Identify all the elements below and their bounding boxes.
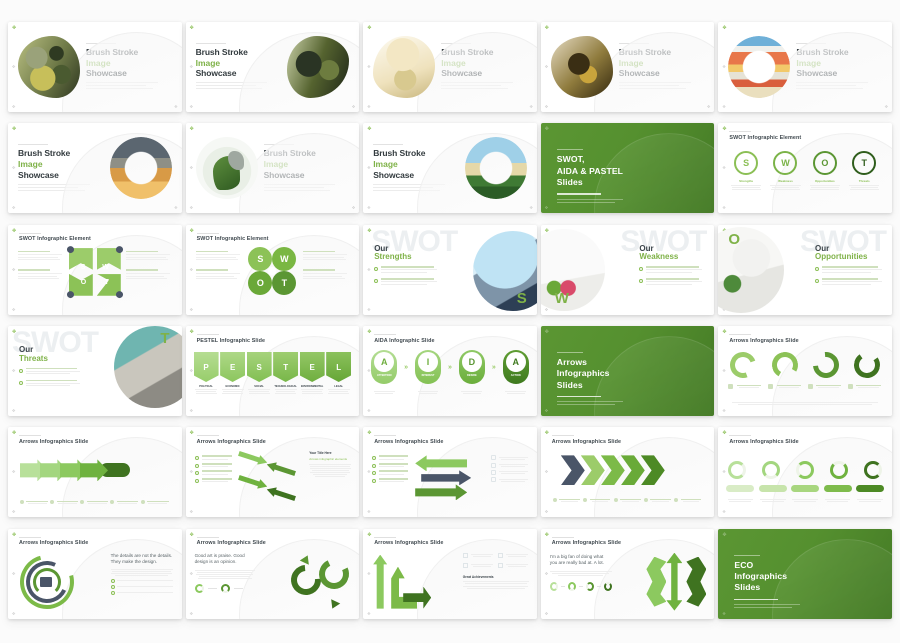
green-cover-text: ECO Infographics Slides (734, 555, 800, 610)
arrow-rings-row (730, 352, 880, 378)
kicker-rule (557, 149, 583, 150)
corner-mark-icon: ✥ (367, 510, 370, 514)
pill-badge[interactable] (791, 485, 819, 492)
kicker-rule (264, 144, 294, 145)
corner-mark-icon: ✥ (190, 510, 193, 514)
cover-line-3: Showcase (796, 68, 882, 79)
placeholder-lines (796, 82, 882, 89)
pill-badge[interactable] (759, 485, 787, 492)
arrow-icon[interactable] (373, 555, 387, 609)
slide-thumbnail-grid: ✥ ✥ ✥ ✥ Brush Stroke Image Showcase ✥ ✥ … (0, 0, 900, 643)
slide-header: SWOT Infographic Element (19, 233, 172, 243)
spiral-arrows (20, 555, 74, 609)
pestel-item[interactable]: T TECHNOLOGICAL (273, 352, 298, 395)
cover-title-line: Slides (557, 177, 623, 188)
cover-text: Brush Stroke Image Showcase (441, 43, 527, 92)
donut-icon[interactable] (728, 461, 746, 479)
quote-block: I'm a big fan of doing what you are real… (550, 554, 612, 591)
corner-mark-icon: ✥ (367, 166, 370, 170)
cover-title-line: AIDA & PASTEL (557, 166, 623, 177)
corner-mark-icon: ✥ (190, 26, 194, 31)
cover-line-3: Showcase (441, 68, 527, 79)
pestel-caption: TECHNOLOGICAL (273, 385, 298, 388)
slide-title: SWOT Infographic Element (729, 135, 882, 141)
corner-mark-icon: ✥ (367, 65, 370, 69)
circular-arrow-icon[interactable] (852, 350, 882, 380)
slide-thumbnail[interactable]: ✥ ✥ ✥ SWOT Infographic Element S W O T (8, 225, 182, 315)
corner-mark-icon: ✥ (190, 206, 193, 210)
pestel-item[interactable]: L LEGAL (326, 352, 351, 395)
corner-mark-icon: ✥ (545, 612, 548, 616)
double-arrow-icon[interactable] (666, 553, 682, 611)
corner-mark-icon: ✥ (174, 105, 177, 109)
cover-line-3: Showcase (18, 170, 104, 181)
corner-mark-icon: ✥ (367, 431, 371, 436)
corner-mark-icon: ✥ (352, 206, 355, 210)
slide-title: Arrows Infographics Slide (19, 540, 172, 546)
corner-mark-icon: ✥ (885, 105, 888, 109)
slide-thumbnail[interactable]: ✥ ✥ ✥ Arrows Infographics Slide Your Tit… (186, 427, 360, 517)
corner-mark-icon: ✥ (722, 105, 725, 109)
cover-line-3: Showcase (86, 68, 172, 79)
aida-connector-icon: » (448, 364, 452, 371)
brush-image (465, 137, 527, 199)
slide-thumbnail[interactable]: ✥ ✥ ✥ Arrows Infographics Slide (718, 326, 892, 416)
slide-header: Arrows Infographics Slide (19, 435, 172, 445)
brush-image (551, 36, 613, 98)
corner-mark-icon: ✥ (190, 533, 194, 538)
corner-mark-icon: ✥ (545, 26, 549, 31)
slide-title: Arrows Infographics Slide (374, 439, 527, 445)
corner-mark-icon: ✥ (545, 105, 548, 109)
corner-mark-icon: ✥ (352, 105, 355, 109)
arrow-icon[interactable] (415, 484, 467, 500)
corner-mark-icon: ✥ (722, 206, 725, 210)
corner-mark-icon: ✥ (12, 369, 15, 373)
corner-mark-icon: ✥ (12, 26, 16, 31)
slide-thumbnail[interactable]: ✥ ✥ ✥ ✥ Brush Stroke Image Showcase (718, 22, 892, 112)
bullet-list (374, 266, 438, 286)
placeholder-line (557, 199, 623, 200)
swot-text-left (18, 251, 64, 281)
pill-badge[interactable] (726, 485, 754, 492)
corner-mark-icon: ✥ (367, 330, 371, 335)
slide-thumbnail[interactable]: ✥ ✥ ECO Infographics Slides (718, 529, 892, 619)
arrow-icon[interactable] (421, 470, 471, 485)
bracket-arrow-icon[interactable] (646, 557, 666, 607)
corner-mark-icon: ✥ (545, 65, 548, 69)
corner-mark-icon: ✥ (545, 409, 548, 413)
placeholder-line (557, 202, 615, 203)
donut-icon[interactable] (762, 461, 780, 479)
section-heading: Threats (19, 355, 81, 364)
corner-mark-icon: ✥ (367, 206, 370, 210)
loop-arrow-icon[interactable] (315, 554, 353, 592)
corner-mark-icon: ✥ (367, 268, 370, 272)
side-text: Your Title Here Arrows infographic eleme… (309, 451, 351, 478)
corner-mark-icon: ✥ (367, 572, 370, 576)
chevron-icon[interactable] (561, 455, 585, 485)
brush-image (287, 36, 349, 98)
pestel-letter: E (300, 352, 325, 382)
corner-mark-icon: ✥ (12, 229, 16, 234)
aida-caption: ATTENTION (377, 374, 392, 377)
slide-thumbnail[interactable]: ✥ ✥ ✥ Arrows Infographics Slide Good art… (186, 529, 360, 619)
slide-title: Arrows Infographics Slide (374, 540, 527, 546)
corner-mark-icon: ✥ (12, 533, 16, 538)
corner-mark-icon: ✥ (545, 572, 548, 576)
slide-thumbnail[interactable]: ✥ ✥ ✥ ✥ Brush Stroke Image Showcase (8, 22, 182, 112)
swot-letter: O (81, 279, 86, 286)
slide-header: SWOT Infographic Element (729, 131, 882, 141)
donut-icon[interactable] (604, 582, 612, 591)
swot-cluster-diagram: S W O T (247, 246, 297, 296)
placeholder-line (557, 404, 615, 405)
corner-mark-icon: ✥ (722, 65, 725, 69)
swot-letter: S (517, 290, 527, 307)
corner-mark-icon: ✥ (12, 127, 16, 132)
cover-text: Brush Stroke Image Showcase (86, 43, 172, 92)
donut-icon[interactable] (568, 582, 576, 591)
section-heading: Strengths (374, 253, 438, 262)
slide-title: Arrows Infographics Slide (729, 338, 882, 344)
corner-mark-icon: ✥ (190, 65, 193, 69)
arrow-icon[interactable] (237, 473, 269, 492)
pestel-letter: E (220, 352, 245, 382)
corner-mark-icon: ✥ (545, 330, 549, 335)
corner-mark-icon: ✥ (529, 206, 532, 210)
cover-line-2: Image (264, 159, 350, 170)
aida-item[interactable]: A ACTION (503, 350, 529, 395)
slide-thumbnail[interactable]: ✥ ✥ SWOT, AIDA & PASTEL Slides (541, 123, 715, 213)
circular-arrow-icon[interactable] (726, 348, 761, 383)
placeholder-lines (196, 82, 282, 89)
slide-thumbnail[interactable]: ✥ ✥ ✥ SWOT Infographic Element S Strengt… (718, 123, 892, 213)
cover-line-1: Brush Stroke (196, 47, 282, 58)
side-title: Great Achievements (463, 575, 529, 579)
corner-mark-icon: ✥ (12, 612, 15, 616)
pestel-letter: S (247, 352, 272, 382)
slide-title: Arrows Infographics Slide (19, 439, 172, 445)
slide-thumbnail[interactable]: ✥ ✥ ✥ Arrows Infographics Slide (8, 427, 182, 517)
slide-thumbnail[interactable]: ✥ ✥ ✥ Arrows Infographics Slide The deta… (8, 529, 182, 619)
corner-mark-icon: ✥ (722, 470, 725, 474)
cover-line-3: Showcase (264, 170, 350, 181)
donut-icon[interactable] (796, 461, 814, 479)
swot-caption: Weakness (766, 179, 804, 183)
aida-connector-icon: » (492, 364, 496, 371)
brush-image (373, 36, 435, 98)
donut-icon[interactable] (830, 461, 848, 479)
slide-header: Arrows Infographics Slide (197, 435, 350, 445)
cover-line-2: Image (441, 58, 527, 69)
aida-item[interactable]: D DESIRE (459, 350, 485, 395)
cover-title-line: Arrows (557, 357, 623, 368)
swot-text-left (196, 251, 242, 281)
corner-mark-icon: ✥ (190, 127, 194, 132)
corner-mark-icon: ✥ (190, 409, 193, 413)
footer-lines (732, 401, 878, 406)
corner-mark-icon: ✥ (174, 206, 177, 210)
corner-mark-icon: ✥ (707, 105, 710, 109)
slide-thumbnail[interactable]: ✥ ✥ ✥ ✥ Brush Stroke Image Showcase (186, 123, 360, 213)
corner-mark-icon: ✥ (12, 470, 15, 474)
corner-mark-icon: ✥ (367, 533, 371, 538)
mirror-arrows (644, 551, 708, 613)
pill-row (726, 485, 884, 492)
cover-line-2: Image (86, 58, 172, 69)
quote-text: I'm a big fan of doing what you are real… (550, 554, 612, 567)
corner-mark-icon: ✥ (12, 572, 15, 576)
slide-header: Arrows Infographics Slide (552, 435, 705, 445)
corner-mark-icon: ✥ (190, 470, 193, 474)
quote-text: Good art is praise. Good design is an op… (195, 553, 255, 566)
kicker-rule (441, 43, 471, 44)
swot-letter: T (160, 330, 169, 347)
chain-captions (20, 500, 170, 505)
corner-mark-icon: ✥ (722, 510, 725, 514)
brush-image (728, 36, 790, 98)
pestel-item[interactable]: E ENVIRONMENTAL (300, 352, 325, 395)
slide-title: Arrows Infographics Slide (729, 439, 882, 445)
title-rule (557, 396, 601, 397)
slide-title: SWOT Infographic Element (19, 236, 172, 242)
slide-header: Arrows Infographics Slide (374, 537, 527, 547)
swot-letter: O (728, 231, 740, 248)
section-heading: Opportunities (815, 253, 883, 262)
ring-row (728, 461, 882, 479)
kicker-rule (796, 43, 826, 44)
brush-image (18, 36, 80, 98)
arrow-icon[interactable] (415, 455, 467, 471)
corner-mark-icon: ✥ (722, 127, 726, 132)
arrow-icon[interactable] (391, 567, 417, 609)
pill-badge[interactable] (824, 485, 852, 492)
slide-photo (473, 231, 537, 311)
corner-mark-icon: ✥ (190, 369, 193, 373)
slide-thumbnail[interactable]: ✥ ✥ ✥ SWOT Our Weakness W (541, 225, 715, 315)
chevron-captions (553, 498, 703, 503)
corner-mark-icon: ✥ (12, 510, 15, 514)
slide-header: Arrows Infographics Slide (374, 435, 527, 445)
slide-thumbnail[interactable]: ✥ ✥ ✥ PESTEL Infographic Slide P POLITIC… (186, 326, 360, 416)
slide-thumbnail[interactable]: ✥ ✥ ✥ Arrows Infographics Slide (718, 427, 892, 517)
swap-arrows (415, 453, 473, 503)
slide-thumbnail[interactable]: ✥ ✥ Arrows Infographics Slides (541, 326, 715, 416)
mini-donut-row (195, 584, 255, 593)
corner-mark-icon: ✥ (545, 127, 549, 132)
slide-header: Arrows Infographics Slide (552, 537, 705, 547)
swot-caption: Threats (845, 179, 883, 183)
swot-text-right (126, 251, 172, 281)
cover-line-2: Image (373, 159, 459, 170)
slide-header: Arrows Infographics Slide (729, 334, 882, 344)
cover-line-1: Brush Stroke (86, 47, 172, 58)
kicker-rule (557, 352, 583, 353)
swot-letter: W (102, 264, 109, 271)
right-bullets (491, 453, 529, 482)
title-rule (557, 193, 601, 194)
corner-mark-icon: ✥ (367, 105, 370, 109)
corner-mark-icon: ✥ (367, 127, 371, 132)
corner-mark-icon: ✥ (722, 166, 725, 170)
slide-header: Arrows Infographics Slide (729, 435, 882, 445)
circular-arrow-icon[interactable] (807, 347, 844, 384)
pestel-row: P POLITICAL E ECONOMIC S SOCIAL T TECHNO… (194, 352, 352, 395)
bracket-arrow-icon[interactable] (686, 557, 706, 607)
cover-line-2: Image (196, 58, 282, 69)
cover-line-2: Image (619, 58, 705, 69)
aida-caption: DESIRE (467, 374, 477, 377)
aida-connector-icon: » (404, 364, 408, 371)
corner-mark-icon: ✥ (545, 308, 548, 312)
cover-title-line: Infographics (734, 571, 800, 582)
pestel-caption: ECONOMIC (220, 385, 245, 388)
green-cover-text: Arrows Infographics Slides (557, 352, 623, 407)
corner-mark-icon: ✥ (367, 308, 370, 312)
swot-letter: O (813, 151, 837, 175)
swot-text-right (303, 251, 349, 281)
swot-item[interactable]: S Strengths (727, 151, 765, 190)
section-heading: Weakness (639, 253, 703, 262)
corner-mark-icon: ✥ (367, 26, 371, 31)
pill-badge[interactable] (856, 485, 884, 492)
arrow-rings-captions (728, 384, 882, 389)
slide-thumbnail[interactable]: ✥ ✥ ✥ ✥ Brush Stroke Image Showcase (363, 123, 537, 213)
kicker-rule (86, 43, 116, 44)
slide-thumbnail[interactable]: ✥ ✥ ✥ AIDA Infographic Slide A ATTENTION… (363, 326, 537, 416)
brush-image (110, 137, 172, 199)
slide-title: Arrows Infographics Slide (197, 439, 350, 445)
placeholder-lines (86, 82, 172, 89)
rising-arrows (371, 553, 437, 611)
loop-arrows (287, 553, 351, 611)
swot-item[interactable]: T Threats (845, 151, 883, 190)
pestel-item[interactable]: P POLITICAL (194, 352, 219, 395)
corner-mark-icon: ✥ (12, 308, 15, 312)
donut-icon[interactable] (864, 461, 882, 479)
arrow-icon[interactable] (265, 460, 297, 479)
corner-mark-icon: ✥ (12, 105, 15, 109)
mini-donut-row (550, 582, 612, 591)
swot-letter: O (248, 271, 272, 295)
aida-letter: I (418, 352, 438, 372)
slide-thumbnail[interactable]: ✥ ✥ ✥ SWOT Our Threats T (8, 326, 182, 416)
pestel-item[interactable]: E ECONOMIC (220, 352, 245, 395)
cover-text: Brush Stroke Image Showcase (264, 144, 350, 193)
slide-thumbnail[interactable]: ✥ ✥ ✥ ✥ Brush Stroke Image Showcase (186, 22, 360, 112)
cover-title-line: SWOT, (557, 154, 623, 165)
corner-mark-icon: ✥ (367, 369, 370, 373)
placeholder-lines (373, 184, 459, 191)
slide-thumbnail[interactable]: ✥ ✥ ✥ Arrows Infographics Slide I'm a bi… (541, 529, 715, 619)
cover-line-3: Showcase (196, 68, 282, 79)
corner-mark-icon: ✥ (545, 533, 549, 538)
left-bullets (372, 453, 410, 483)
kicker-rule (373, 144, 403, 145)
slide-header: Arrows Infographics Slide (197, 537, 350, 547)
slide-thumbnail[interactable]: ✥ ✥ ✥ Arrows Infographics Slide Great Ac… (363, 529, 537, 619)
cover-title-line: Slides (557, 380, 623, 391)
donut-icon[interactable] (550, 582, 558, 591)
slide-title: SWOT Infographic Element (197, 236, 350, 242)
cover-line-1: Brush Stroke (373, 148, 459, 159)
placeholder-lines (441, 82, 527, 89)
cover-title-line: Infographics (557, 368, 623, 379)
bullet-list (19, 368, 81, 388)
swot-item[interactable]: W Weakness (766, 151, 804, 190)
corner-mark-icon: ✥ (545, 206, 548, 210)
slide-thumbnail[interactable]: ✥ ✥ ✥ SWOT Infographic Element S W O T (186, 225, 360, 315)
donut-icon[interactable] (195, 584, 204, 593)
corner-mark-icon: ✥ (545, 510, 548, 514)
corner-mark-icon: ✥ (12, 268, 15, 272)
chevron-row (561, 455, 665, 485)
quote-block: The details are not the details. They ma… (111, 553, 173, 595)
circular-arrow-icon[interactable] (769, 349, 801, 381)
cover-title-line: Slides (734, 582, 800, 593)
aida-letter: A (374, 352, 394, 372)
pestel-letter: L (326, 352, 351, 382)
corner-mark-icon: ✥ (190, 308, 193, 312)
corner-mark-icon: ✥ (190, 612, 193, 616)
corner-mark-icon: ✥ (722, 26, 726, 31)
converging-arrows (238, 451, 298, 507)
placeholder-line (734, 604, 800, 605)
slide-photo (541, 229, 605, 311)
cover-line-2: Image (18, 159, 104, 170)
green-cover-text: SWOT, AIDA & PASTEL Slides (557, 149, 623, 204)
corner-mark-icon: ✥ (190, 572, 193, 576)
donut-icon[interactable] (221, 584, 230, 593)
corner-mark-icon: ✥ (12, 65, 15, 69)
arrow-icon[interactable] (265, 485, 297, 504)
corner-mark-icon: ✥ (722, 612, 725, 616)
swot-item[interactable]: O Opportunities (806, 151, 844, 190)
aida-item[interactable]: A ATTENTION (371, 350, 397, 395)
aida-caption: INTEREST (422, 374, 435, 377)
placeholder-lines (264, 184, 350, 191)
slide-thumbnail[interactable]: ✥ ✥ ✥ SWOT Our Strengths S (363, 225, 537, 315)
donut-icon[interactable] (586, 582, 594, 591)
swot-letter: W (773, 151, 797, 175)
placeholder-lines (18, 184, 104, 191)
corner-mark-icon: ✥ (190, 105, 193, 109)
side-title: Your Title Here (309, 451, 351, 455)
pestel-caption: LEGAL (326, 385, 351, 388)
slide-thumbnail[interactable]: ✥ ✥ ✥ ✥ Brush Stroke Image Showcase (541, 22, 715, 112)
cover-text: Brush Stroke Image Showcase (196, 43, 282, 92)
kicker-rule (196, 43, 226, 44)
corner-mark-icon: ✥ (12, 206, 15, 210)
swot-letter: W (555, 290, 569, 307)
arrow-icon[interactable] (237, 449, 269, 468)
pestel-item[interactable]: S SOCIAL (247, 352, 272, 395)
slide-thumbnail[interactable]: ✥ ✥ ✥ Arrows Infographics Slide (541, 427, 715, 517)
slide-thumbnail[interactable]: ✥ ✥ ✥ ✥ Brush Stroke Image Showcase (8, 123, 182, 213)
cover-line-1: Brush Stroke (264, 148, 350, 159)
corner-mark-icon: ✥ (190, 268, 193, 272)
slide-thumbnail[interactable]: ✥ ✥ ✥ ✥ Brush Stroke Image Showcase (363, 22, 537, 112)
slide-header: PESTEL Infographic Slide (197, 334, 350, 344)
aida-item[interactable]: I INTEREST (415, 350, 441, 395)
slide-thumbnail[interactable]: ✥ ✥ ✥ SWOT Our Opportunities O (718, 225, 892, 315)
slide-thumbnail[interactable]: ✥ ✥ ✥ Arrows Infographics Slide (363, 427, 537, 517)
pestel-caption: ENVIRONMENTAL (300, 385, 325, 388)
section-title: Our Opportunities (815, 245, 883, 287)
pill-captions (726, 497, 884, 502)
swot-letter: T (272, 271, 296, 295)
